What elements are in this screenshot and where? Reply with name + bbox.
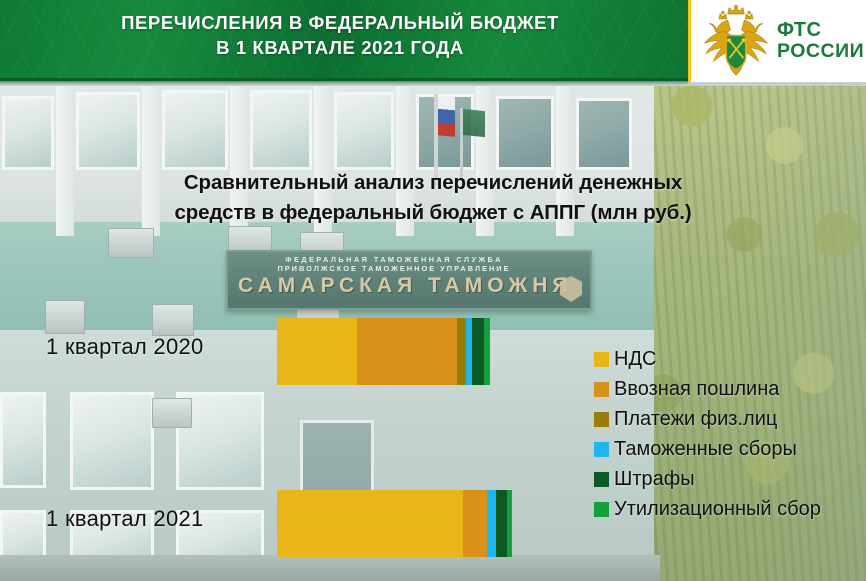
legend-item-label: Ввозная пошлина <box>614 378 779 401</box>
legend-swatch-icon <box>594 412 609 427</box>
legend-swatch-icon <box>594 352 609 367</box>
legend-item-label: Штрафы <box>614 468 695 491</box>
bar-segment[interactable] <box>484 318 490 385</box>
bar-segment[interactable] <box>472 318 484 385</box>
legend-item[interactable]: Таможенные сборы <box>594 434 866 464</box>
legend-item[interactable]: Штрафы <box>594 464 866 494</box>
bar-segment[interactable] <box>496 490 507 557</box>
category-label-2020: 1 квартал 2020 <box>46 334 204 360</box>
bar-2021[interactable] <box>277 490 512 557</box>
bar-2020[interactable] <box>277 318 490 385</box>
legend-swatch-icon <box>594 472 609 487</box>
legend-swatch-icon <box>594 442 609 457</box>
bar-segment[interactable] <box>507 490 512 557</box>
legend-item-label: Платежи физ.лиц <box>614 408 777 431</box>
bar-segment[interactable] <box>357 318 457 385</box>
slide-root: ФЕДЕРАЛЬНАЯ ТАМОЖЕННАЯ СЛУЖБА ПРИВОЛЖСКО… <box>0 0 866 581</box>
legend-item[interactable]: НДС <box>594 344 866 374</box>
legend-item[interactable]: Ввозная пошлина <box>594 374 866 404</box>
legend-swatch-icon <box>594 502 609 517</box>
bar-segment[interactable] <box>487 490 496 557</box>
bar-segment[interactable] <box>463 490 487 557</box>
legend-item-label: Таможенные сборы <box>614 438 797 461</box>
legend-swatch-icon <box>594 382 609 397</box>
legend-item[interactable]: Платежи физ.лиц <box>594 404 866 434</box>
category-label-2021: 1 квартал 2021 <box>46 506 204 532</box>
bar-segment[interactable] <box>277 490 463 557</box>
legend-item-label: Утилизационный сбор <box>614 498 821 521</box>
bar-segment[interactable] <box>457 318 466 385</box>
bar-segment[interactable] <box>277 318 357 385</box>
chart-legend: НДСВвозная пошлинаПлатежи физ.лицТаможен… <box>594 344 866 524</box>
legend-item-label: НДС <box>614 348 656 371</box>
legend-item[interactable]: Утилизационный сбор <box>594 494 866 524</box>
